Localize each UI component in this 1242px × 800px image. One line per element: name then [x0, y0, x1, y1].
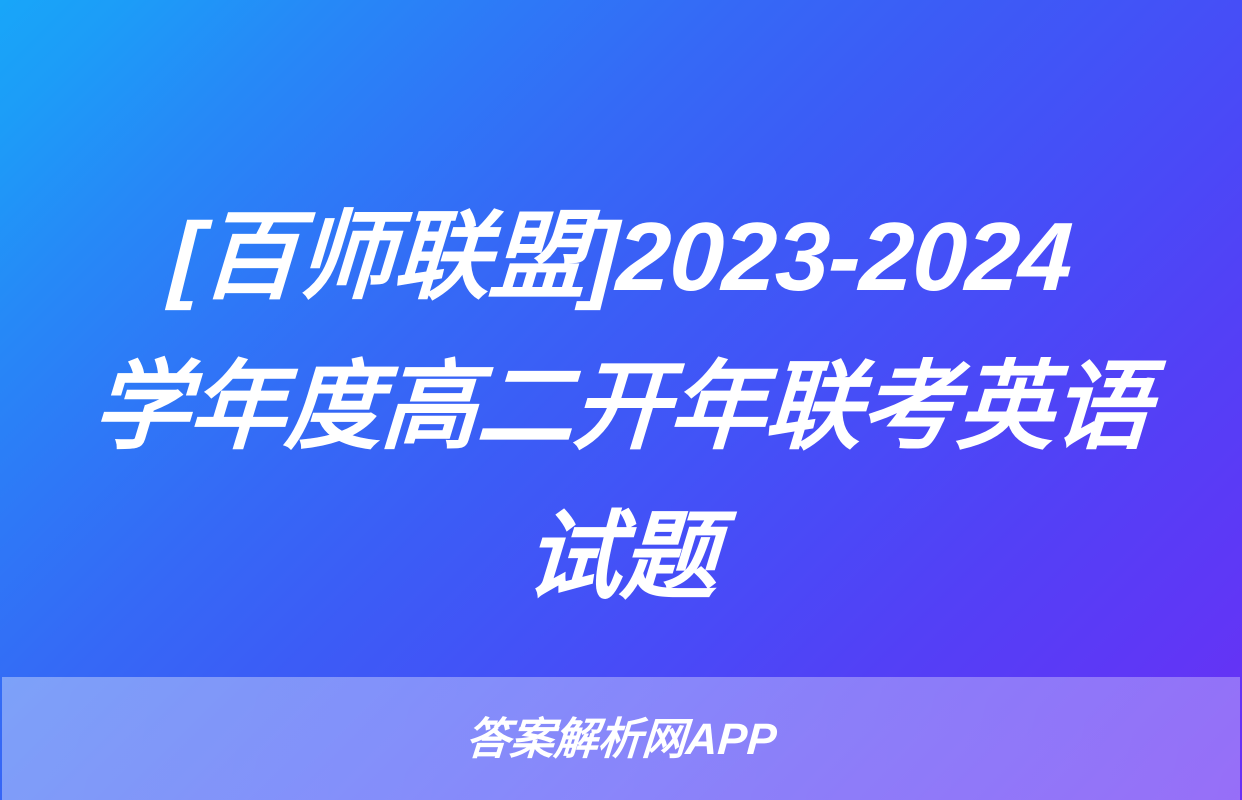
title-line-3: 试题: [52, 482, 1190, 632]
title-line-2: 学年度高二开年联考英语: [52, 332, 1190, 482]
watermark-band: 答案解析网APP: [2, 677, 1240, 800]
page-title: [百师联盟]2023-2024 学年度高二开年联考英语 试题: [0, 182, 1242, 632]
title-line-1: [百师联盟]2023-2024: [52, 182, 1190, 332]
exam-cover-card: [百师联盟]2023-2024 学年度高二开年联考英语 试题 答案解析网APP: [0, 0, 1242, 800]
watermark-app-label: 答案解析网APP: [464, 718, 778, 762]
